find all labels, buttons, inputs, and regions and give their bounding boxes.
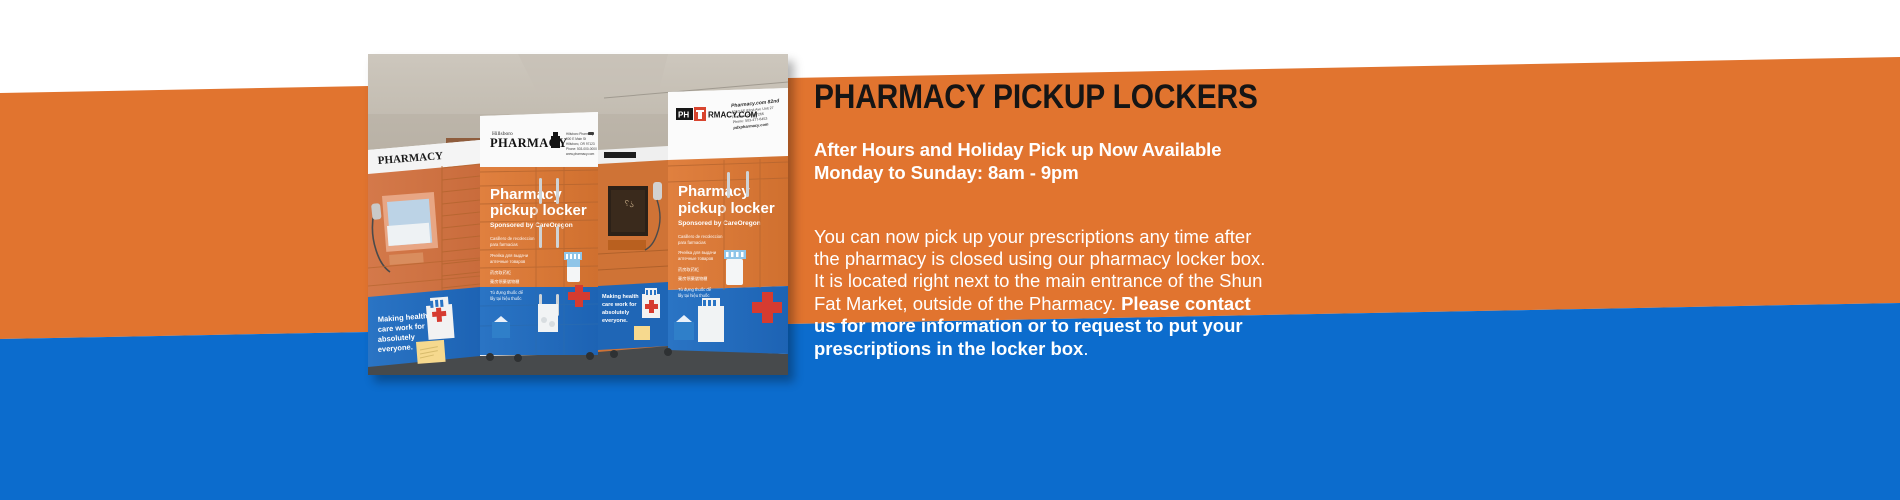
svg-text:¿?: ¿? bbox=[624, 199, 634, 208]
svg-text:Sponsored by CareOregon: Sponsored by CareOregon bbox=[490, 222, 573, 229]
svg-text:everyone.: everyone. bbox=[602, 318, 628, 324]
hours-line-1: After Hours and Holiday Pick up Now Avai… bbox=[814, 138, 1284, 161]
svg-text:Tủ đựng thuốc để: Tủ đựng thuốc để bbox=[490, 290, 524, 295]
description-paragraph: You can now pick up your prescriptions a… bbox=[814, 226, 1266, 360]
svg-text:Hillsboro, OR 97123: Hillsboro, OR 97123 bbox=[566, 142, 595, 146]
svg-text:lấy tại hiệu thuốc: lấy tại hiệu thuốc bbox=[678, 293, 709, 298]
pharmacy-pickup-lockers-banner: PHARMACY bbox=[0, 0, 1900, 500]
svg-text:www.pharmacy.com: www.pharmacy.com bbox=[566, 152, 595, 156]
svg-text:Making health: Making health bbox=[602, 294, 639, 300]
svg-text:absolutely: absolutely bbox=[602, 310, 630, 316]
svg-text:药房取药柜: 药房取药柜 bbox=[678, 266, 699, 273]
svg-text:000 E Main St: 000 E Main St bbox=[566, 137, 586, 141]
svg-text:藥房領藥儲物櫃: 藥房領藥儲物櫃 bbox=[678, 275, 708, 282]
svg-text:care work for: care work for bbox=[602, 302, 637, 308]
svg-text:Pharmacy: Pharmacy bbox=[678, 183, 750, 200]
kiosk-middle-right: ¿? Making health care work for absolutel… bbox=[598, 146, 668, 352]
lockers-photo: PHARMACY bbox=[368, 54, 788, 375]
hours-line-2: Monday to Sunday: 8am - 9pm bbox=[814, 161, 1284, 184]
svg-text:para farmacias: para farmacias bbox=[490, 242, 518, 247]
svg-text:Sponsored by CareOregon: Sponsored by CareOregon bbox=[678, 220, 761, 227]
svg-text:Tủ đựng thuốc để: Tủ đựng thuốc để bbox=[678, 287, 712, 292]
svg-text:аптечные товаров: аптечные товаров bbox=[678, 256, 714, 261]
svg-text:PH: PH bbox=[678, 111, 689, 120]
svg-text:Casillero de recoleccion: Casillero de recoleccion bbox=[678, 234, 723, 239]
svg-text:pickup locker: pickup locker bbox=[490, 202, 587, 219]
kiosk-center: Hillsboro PHARMACY Hillsboro Pharmacy 00… bbox=[480, 112, 598, 356]
svg-text:Ячейка для выдачи: Ячейка для выдачи bbox=[678, 250, 717, 255]
svg-text:para farmacias: para farmacias bbox=[678, 240, 706, 245]
kiosk-left: PHARMACY bbox=[368, 140, 480, 367]
hours-block: After Hours and Holiday Pick up Now Avai… bbox=[814, 138, 1284, 184]
svg-text:药房取药柜: 药房取药柜 bbox=[490, 269, 511, 276]
svg-text:Phone: 503-000-0000: Phone: 503-000-0000 bbox=[566, 147, 597, 151]
description-tail: . bbox=[1083, 338, 1088, 359]
svg-text:藥房領藥儲物櫃: 藥房領藥儲物櫃 bbox=[490, 278, 520, 285]
svg-text:аптечные товаров: аптечные товаров bbox=[490, 259, 526, 264]
svg-text:Casillero de recoleccion: Casillero de recoleccion bbox=[490, 236, 535, 241]
kiosk-right: PH RMACY.COM Pharmacy.com 82nd 5263 SE 8… bbox=[668, 88, 788, 354]
banner-content: PHARMACY PICKUP LOCKERS After Hours and … bbox=[814, 0, 1284, 500]
page-title: PHARMACY PICKUP LOCKERS bbox=[814, 77, 1258, 117]
svg-text:Ячейка для выдачи: Ячейка для выдачи bbox=[490, 253, 529, 258]
svg-text:lấy tại hiệu thuốc: lấy tại hiệu thuốc bbox=[490, 296, 521, 301]
lockers-photo-image: PHARMACY bbox=[368, 54, 788, 375]
svg-text:Pharmacy: Pharmacy bbox=[490, 186, 562, 203]
